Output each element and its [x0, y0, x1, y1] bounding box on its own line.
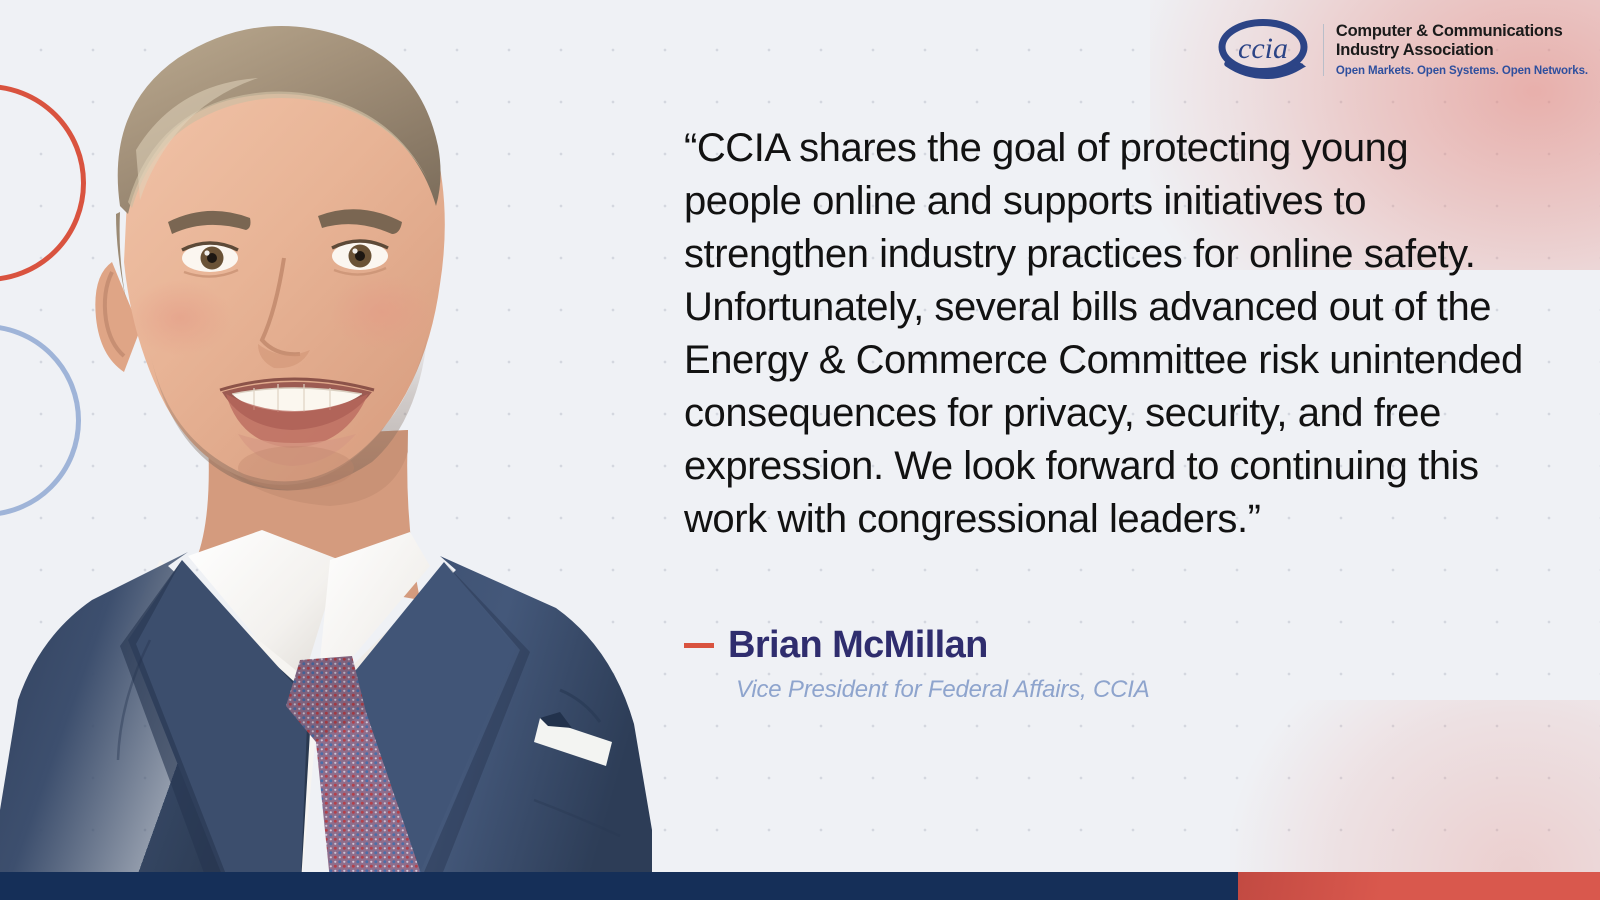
ccia-logo-wordmark: ccia	[1238, 32, 1288, 65]
logo-org-line-1: Computer & Communications	[1336, 22, 1588, 42]
logo-divider	[1323, 24, 1324, 76]
logo-text-block: Computer & Communications Industry Assoc…	[1334, 22, 1588, 79]
quote-card: ccia Computer & Communications Industry …	[0, 0, 1600, 900]
quote-text: “CCIA shares the goal of protecting youn…	[684, 122, 1534, 546]
logo-tagline: Open Markets. Open Systems. Open Network…	[1336, 64, 1588, 79]
bottom-bar-navy-segment	[0, 872, 1238, 900]
bottom-accent-bar	[0, 872, 1600, 900]
bottom-bar-navy-dots	[0, 872, 1238, 900]
attribution-name: Brian McMillan	[728, 622, 988, 668]
attribution-name-row: Brian McMillan	[684, 622, 1504, 668]
quote-block: “CCIA shares the goal of protecting youn…	[684, 122, 1534, 546]
portrait-photo	[0, 0, 660, 900]
bottom-bar-red-segment	[1238, 872, 1600, 900]
attribution-dash-icon	[684, 643, 714, 648]
ccia-logo-lockup[interactable]: ccia Computer & Communications Industry …	[1213, 18, 1588, 82]
attribution-block: Brian McMillan Vice President for Federa…	[684, 622, 1504, 706]
attribution-title: Vice President for Federal Affairs, CCIA	[736, 674, 1504, 706]
logo-org-line-2: Industry Association	[1336, 41, 1588, 61]
bottom-bar-red-dots	[1238, 872, 1600, 900]
ccia-logo-icon: ccia	[1213, 18, 1313, 82]
